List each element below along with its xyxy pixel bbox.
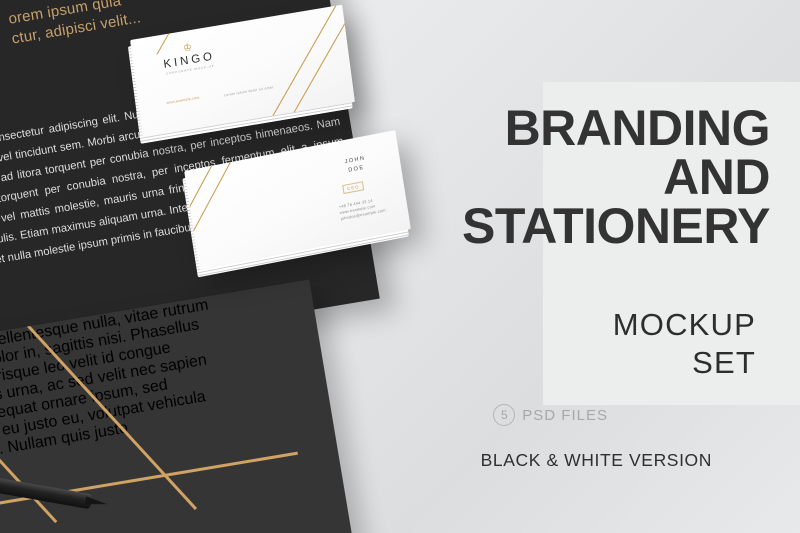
subtitle-line-1: MOCKUP bbox=[426, 306, 756, 344]
title-line-1: BRANDING bbox=[300, 104, 770, 153]
psd-files-badge: 5 PSD FILES bbox=[493, 404, 608, 426]
crown-icon: ♔ bbox=[181, 44, 195, 54]
kingo-logo: ♔ KINGO CORPORATE MOCK-UP bbox=[161, 40, 216, 75]
card-front-lorem: Lorem ipsum dolor sit amet bbox=[224, 85, 274, 97]
page-title: BRANDING AND STATIONERY bbox=[300, 104, 770, 251]
card-front-website: www.example.com bbox=[166, 95, 200, 104]
mockup-preview-canvas: orem ipsum quia ctur, adipisci velit... … bbox=[0, 0, 800, 533]
psd-count-circle: 5 bbox=[493, 404, 515, 426]
psd-files-label: PSD FILES bbox=[522, 407, 608, 424]
page-subtitle: MOCKUP SET bbox=[426, 306, 756, 382]
version-label: BLACK & WHITE VERSION bbox=[481, 450, 712, 471]
title-line-2: AND bbox=[300, 153, 770, 202]
stationery-photo-composition: orem ipsum quia ctur, adipisci velit... … bbox=[0, 0, 470, 533]
subtitle-line-2: SET bbox=[426, 344, 756, 382]
title-line-3: STATIONERY bbox=[300, 202, 770, 251]
